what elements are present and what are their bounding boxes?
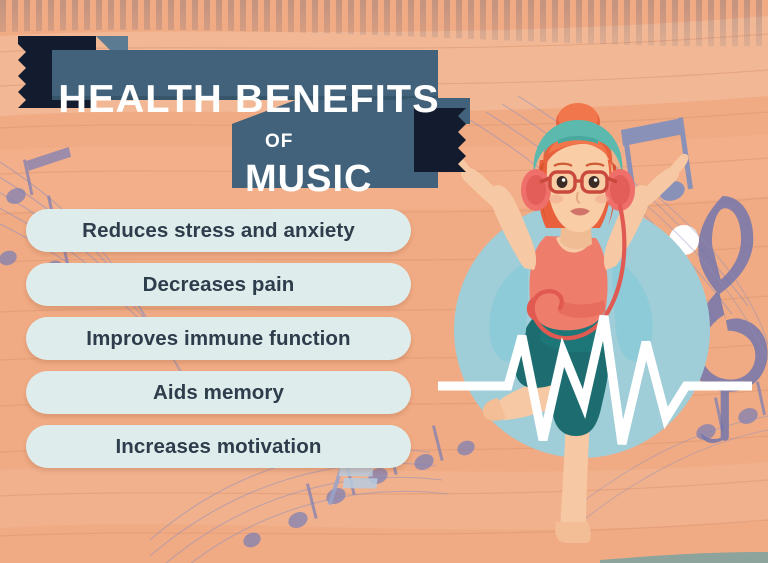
infographic-poster: HEALTH BENEFITS OF MUSIC Reduces stress … — [0, 0, 768, 563]
benefit-label-2: Decreases pain — [143, 273, 295, 297]
benefit-label-4: Aids memory — [153, 381, 284, 405]
title-line-1: HEALTH BENEFITS — [58, 78, 439, 122]
benefit-item-1[interactable]: Reduces stress and anxiety — [26, 209, 411, 252]
benefit-label-3: Improves immune function — [86, 327, 350, 351]
benefit-item-2[interactable]: Decreases pain — [26, 263, 411, 306]
benefit-item-4[interactable]: Aids memory — [26, 371, 411, 414]
title-line-3: MUSIC — [245, 158, 372, 201]
benefits-list: Reduces stress and anxiety Decreases pai… — [26, 209, 411, 479]
benefit-label-5: Increases motivation — [116, 435, 322, 459]
benefit-item-5[interactable]: Increases motivation — [26, 425, 411, 468]
benefit-item-3[interactable]: Improves immune function — [26, 317, 411, 360]
benefit-label-1: Reduces stress and anxiety — [82, 219, 355, 243]
title-text-group: HEALTH BENEFITS OF MUSIC — [0, 28, 470, 188]
title-line-2: OF — [265, 131, 293, 153]
